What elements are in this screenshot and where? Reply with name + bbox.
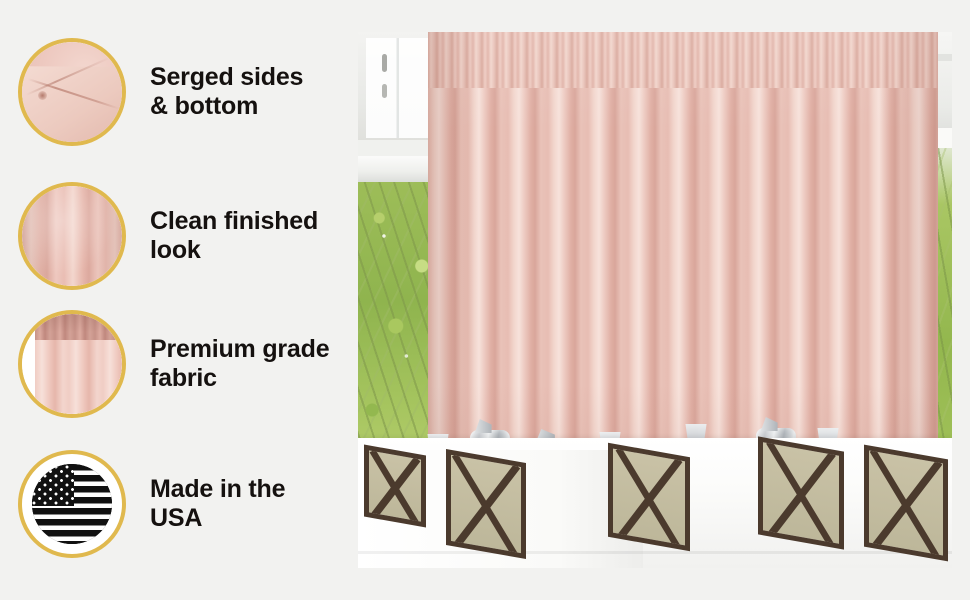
feature-label: Clean finished look: [150, 207, 318, 266]
chair-back: [758, 436, 844, 549]
feature-item-serged-sides: Serged sides & bottom: [18, 36, 348, 148]
feature-item-made-in-usa: Made in the USA: [18, 448, 348, 560]
lifestyle-photo: [358, 32, 952, 568]
pleated-fabric-closeup-icon: [18, 182, 126, 290]
chair-back: [608, 443, 690, 551]
pink-curtain-backdrop: [428, 32, 938, 484]
chair-back: [864, 445, 948, 562]
product-feature-banner: Serged sides & bottom Clean finished loo…: [0, 0, 970, 600]
feature-item-clean-finished-look: Clean finished look: [18, 180, 348, 292]
chair-back: [364, 445, 426, 528]
curtain-panel-icon: [18, 310, 126, 418]
usa-flag-roundel-icon: [18, 450, 126, 558]
folded-hemmed-fabric-icon: [18, 38, 126, 146]
feature-list: Serged sides & bottom Clean finished loo…: [0, 0, 350, 600]
chair-back: [446, 449, 526, 559]
feature-label: Premium grade fabric: [150, 335, 329, 394]
feature-item-premium-grade-fabric: Premium grade fabric: [18, 308, 348, 420]
feature-label: Made in the USA: [150, 475, 285, 534]
feature-label: Serged sides & bottom: [150, 63, 303, 122]
table-edge: [358, 551, 952, 554]
